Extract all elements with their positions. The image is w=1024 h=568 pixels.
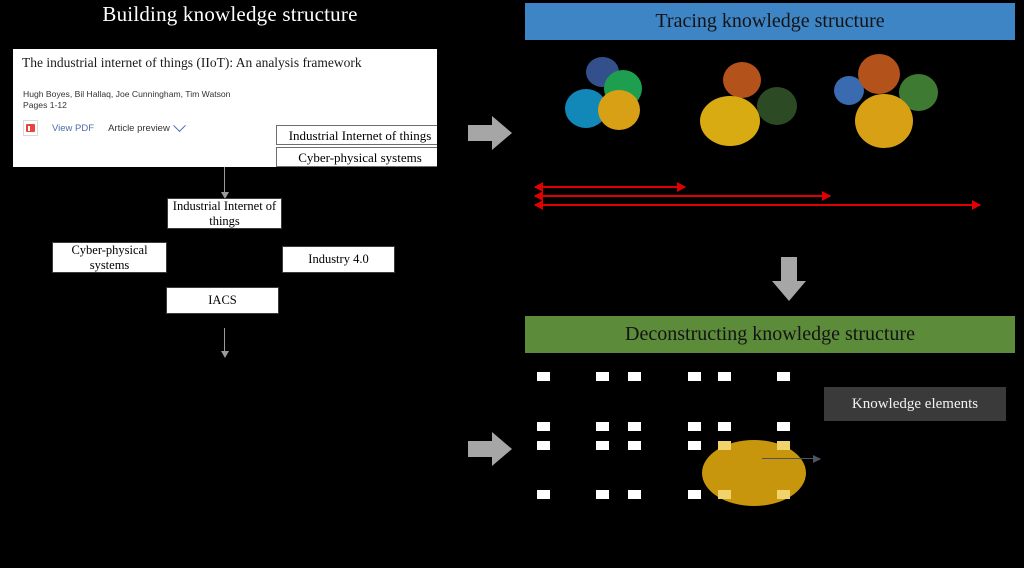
ellipse-pointer-arrow [762, 458, 820, 459]
arrow-head [772, 281, 806, 301]
cluster-2-circle-2 [757, 87, 797, 125]
article-card-actions: View PDF Article preview [23, 120, 184, 136]
knowledge-element-r1-c1 [537, 372, 550, 381]
knowledge-element-r4-c1 [537, 490, 550, 499]
tag-item[interactable]: Cyber-physical systems [276, 147, 437, 167]
knowledge-element-r2-c4 [688, 422, 701, 431]
knowledge-element-r3-c2 [596, 441, 609, 450]
article-card: The industrial internet of things (IIoT)… [13, 49, 437, 167]
arrow-shaft [468, 441, 494, 457]
knowledge-element-r1-c2 [596, 372, 609, 381]
tag-list: Industrial Internet of things Cyber-phys… [276, 125, 437, 167]
knowledge-element-r2-c2 [596, 422, 609, 431]
arrow-shaft [781, 257, 797, 283]
flow-box-industry40[interactable]: Industry 4.0 [282, 246, 395, 273]
knowledge-element-r4-c2 [596, 490, 609, 499]
flow-arrow-down-bottom [224, 328, 225, 352]
trace-panel-header: Tracing knowledge structure [525, 3, 1015, 40]
red-double-arrow-2 [535, 195, 830, 197]
cluster-2-circle-3 [700, 96, 760, 146]
knowledge-element-r4-c3 [628, 490, 641, 499]
article-heading: The industrial internet of things (IIoT)… [22, 55, 372, 71]
arrow-head [492, 116, 512, 150]
article-preview-toggle[interactable]: Article preview [108, 123, 184, 134]
red-double-arrow-3 [535, 204, 980, 206]
knowledge-element-r3-c1 [537, 441, 550, 450]
article-pages: Pages 1-12 [23, 100, 67, 110]
knowledge-element-r1-c6 [777, 372, 790, 381]
chevron-down-icon [173, 119, 186, 132]
tag-item[interactable]: Industrial Internet of things [276, 125, 437, 145]
cluster-2-circle-1 [723, 62, 761, 98]
deconstruct-panel-header: Deconstructing knowledge structure [525, 316, 1015, 353]
flow-arrow-down-top [224, 167, 225, 193]
knowledge-element-r1-c3 [628, 372, 641, 381]
knowledge-element-r3-c6 [777, 441, 790, 450]
red-double-arrow-1 [535, 186, 685, 188]
flow-box-cps[interactable]: Cyber-physical systems [52, 242, 167, 273]
knowledge-element-r4-c6 [777, 490, 790, 499]
cluster-3-circle-2 [858, 54, 900, 94]
arrow-shaft [468, 125, 494, 141]
knowledge-element-r3-c3 [628, 441, 641, 450]
cluster-3-circle-4 [855, 94, 913, 148]
cluster-1-circle-4 [598, 90, 640, 130]
knowledge-element-r1-c5 [718, 372, 731, 381]
knowledge-element-r1-c4 [688, 372, 701, 381]
left-panel-title: Building knowledge structure [0, 2, 460, 27]
slide-canvas: Building knowledge structure The industr… [0, 0, 1024, 568]
flow-box-iacs[interactable]: IACS [166, 287, 279, 314]
knowledge-element-r3-c5 [718, 441, 731, 450]
knowledge-element-r4-c4 [688, 490, 701, 499]
knowledge-elements-label: Knowledge elements [824, 387, 1006, 421]
knowledge-element-r4-c5 [718, 490, 731, 499]
article-preview-label: Article preview [108, 123, 170, 134]
pdf-icon [23, 120, 38, 136]
gray-arrow-trace-icon [468, 116, 512, 150]
knowledge-element-r3-c4 [688, 441, 701, 450]
view-pdf-link[interactable]: View PDF [52, 123, 94, 134]
knowledge-element-r2-c6 [777, 422, 790, 431]
arrow-head [492, 432, 512, 466]
knowledge-element-r2-c1 [537, 422, 550, 431]
gray-arrow-down-icon [772, 257, 806, 301]
article-authors: Hugh Boyes, Bil Hallaq, Joe Cunningham, … [23, 88, 273, 100]
knowledge-element-r2-c5 [718, 422, 731, 431]
flow-box-iiot[interactable]: Industrial Internet of things [167, 198, 282, 229]
gray-arrow-deconstruct-icon [468, 432, 512, 466]
knowledge-element-r2-c3 [628, 422, 641, 431]
